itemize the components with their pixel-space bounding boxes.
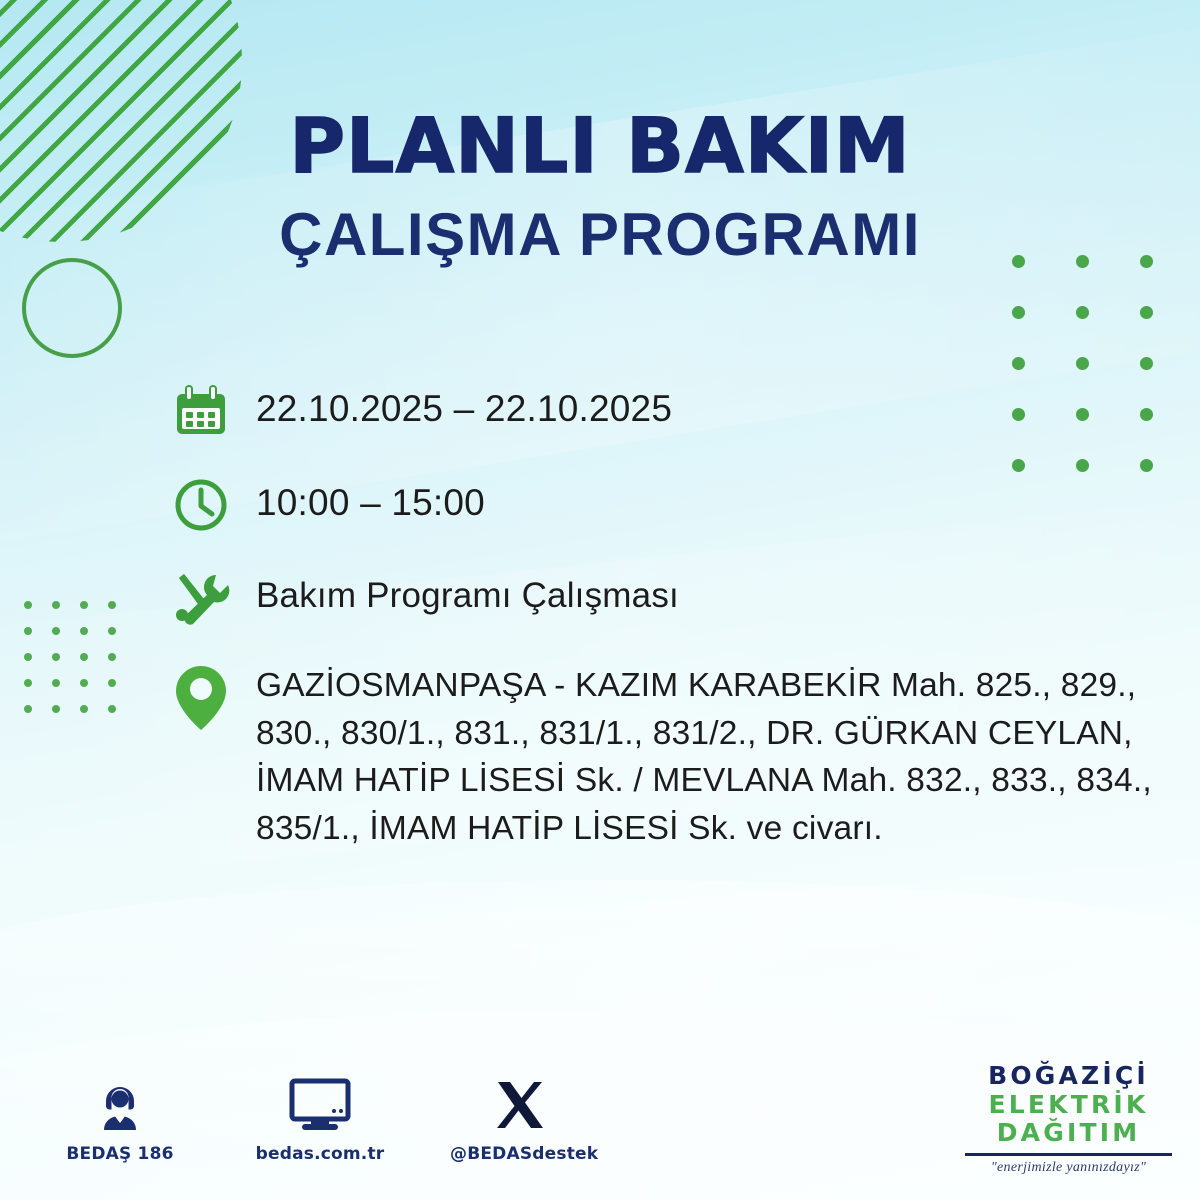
dot xyxy=(108,653,116,661)
dot xyxy=(24,679,32,687)
planned-maintenance-poster: PLANLI BAKIM ÇALIŞMA PROGRAMI xyxy=(0,0,1200,1200)
footer-item-website[interactable]: bedas.com.tr xyxy=(250,1074,390,1164)
info-value-time: 10:00 – 15:00 xyxy=(234,472,485,521)
dot xyxy=(108,705,116,713)
headset-support-icon xyxy=(50,1074,190,1136)
calendar-icon xyxy=(168,378,234,444)
info-value-date: 22.10.2025 – 22.10.2025 xyxy=(234,378,672,427)
background-wave-upper xyxy=(0,880,1200,1050)
circle-outline-decoration xyxy=(22,258,122,358)
dot xyxy=(24,627,32,635)
dot xyxy=(24,601,32,609)
location-pin-icon xyxy=(168,660,234,726)
logo-line-elektrik: ELEKTRİK xyxy=(961,1091,1176,1120)
info-row-time: 10:00 – 15:00 xyxy=(168,472,1178,538)
dot xyxy=(80,653,88,661)
clock-icon xyxy=(168,472,234,538)
dot xyxy=(1140,357,1153,370)
info-list: 22.10.2025 – 22.10.2025 10:00 – 15:00 xyxy=(168,378,1178,852)
dot xyxy=(52,679,60,687)
footer-contact-list: BEDAŞ 186 bedas.com.tr @BEDASdestek xyxy=(50,1074,590,1164)
info-value-location: GAZİOSMANPAŞA - KAZIM KARABEKİR Mah. 825… xyxy=(234,660,1174,852)
dot xyxy=(108,627,116,635)
logo-line-dagitim: DAĞITIM xyxy=(961,1119,1176,1148)
info-row-work-type: Bakım Programı Çalışması xyxy=(168,566,1178,632)
logo-line-bogazici: BOĞAZİÇİ xyxy=(961,1062,1176,1091)
dot-grid-left-decoration xyxy=(14,592,126,722)
dot xyxy=(52,601,60,609)
dot xyxy=(1076,357,1089,370)
bedas-logo: BOĞAZİÇİ ELEKTRİK DAĞITIM "enerjimizle y… xyxy=(961,1062,1176,1176)
footer-label-website: bedas.com.tr xyxy=(250,1144,390,1164)
dot xyxy=(108,679,116,687)
dot xyxy=(1012,357,1025,370)
info-value-work-type: Bakım Programı Çalışması xyxy=(234,566,679,613)
footer-item-call-center[interactable]: BEDAŞ 186 xyxy=(50,1074,190,1164)
dot xyxy=(80,679,88,687)
dot xyxy=(24,653,32,661)
info-row-date: 22.10.2025 – 22.10.2025 xyxy=(168,378,1178,444)
logo-divider xyxy=(965,1153,1172,1156)
dot xyxy=(52,627,60,635)
dot xyxy=(1012,306,1025,319)
footer-label-call-center: BEDAŞ 186 xyxy=(50,1144,190,1164)
info-row-location: GAZİOSMANPAŞA - KAZIM KARABEKİR Mah. 825… xyxy=(168,660,1178,852)
poster-heading: PLANLI BAKIM ÇALIŞMA PROGRAMI xyxy=(0,108,1200,269)
x-twitter-icon xyxy=(450,1074,590,1136)
page-subtitle: ÇALIŞMA PROGRAMI xyxy=(0,200,1200,269)
tools-icon xyxy=(168,566,234,632)
footer-item-x-account[interactable]: @BEDASdestek xyxy=(450,1074,590,1164)
dot xyxy=(80,601,88,609)
dot xyxy=(52,705,60,713)
logo-tagline: "enerjimizle yanınızdayız" xyxy=(961,1160,1176,1176)
footer-label-x-account: @BEDASdestek xyxy=(450,1144,590,1164)
dot xyxy=(1140,306,1153,319)
dot xyxy=(80,705,88,713)
dot xyxy=(52,653,60,661)
dot xyxy=(24,705,32,713)
monitor-website-icon xyxy=(250,1074,390,1136)
dot xyxy=(108,601,116,609)
page-title: PLANLI BAKIM xyxy=(0,108,1200,184)
dot xyxy=(80,627,88,635)
dot xyxy=(1076,306,1089,319)
